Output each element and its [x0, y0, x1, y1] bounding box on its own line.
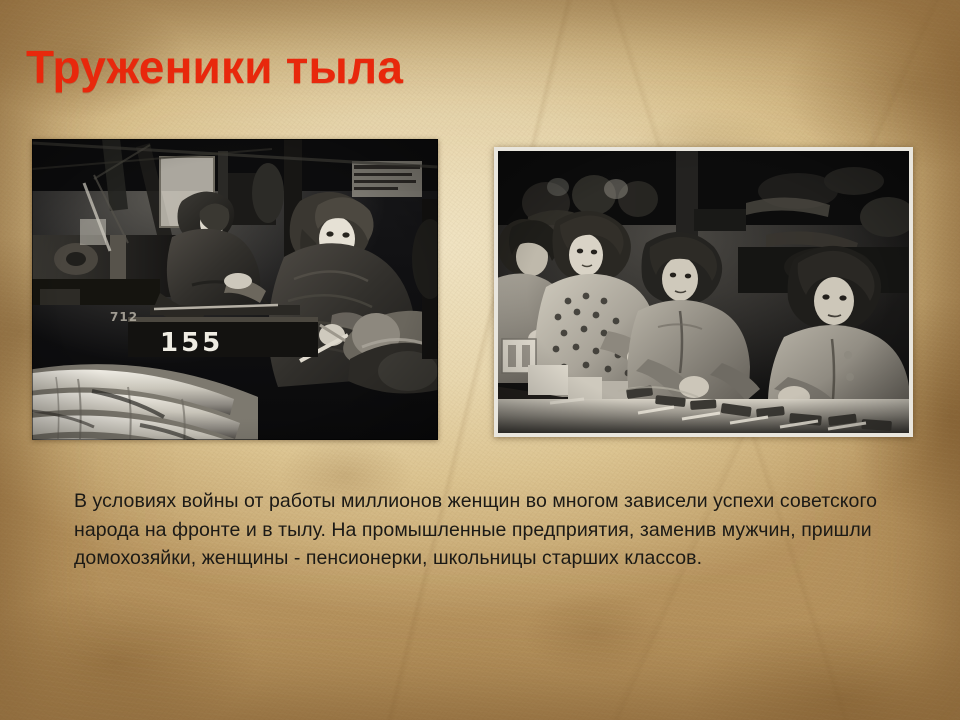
photo-left-graphic: 155 712	[32, 139, 438, 440]
photo-women-assembly-line	[494, 147, 913, 437]
body-paragraph: В условиях войны от работы миллионов жен…	[74, 487, 894, 573]
presentation-slide: Труженики тыла	[0, 0, 960, 720]
photo-right-graphic	[498, 151, 909, 433]
photo-women-shell-workshop: 155 712	[32, 139, 438, 440]
page-title: Труженики тыла	[26, 42, 403, 93]
